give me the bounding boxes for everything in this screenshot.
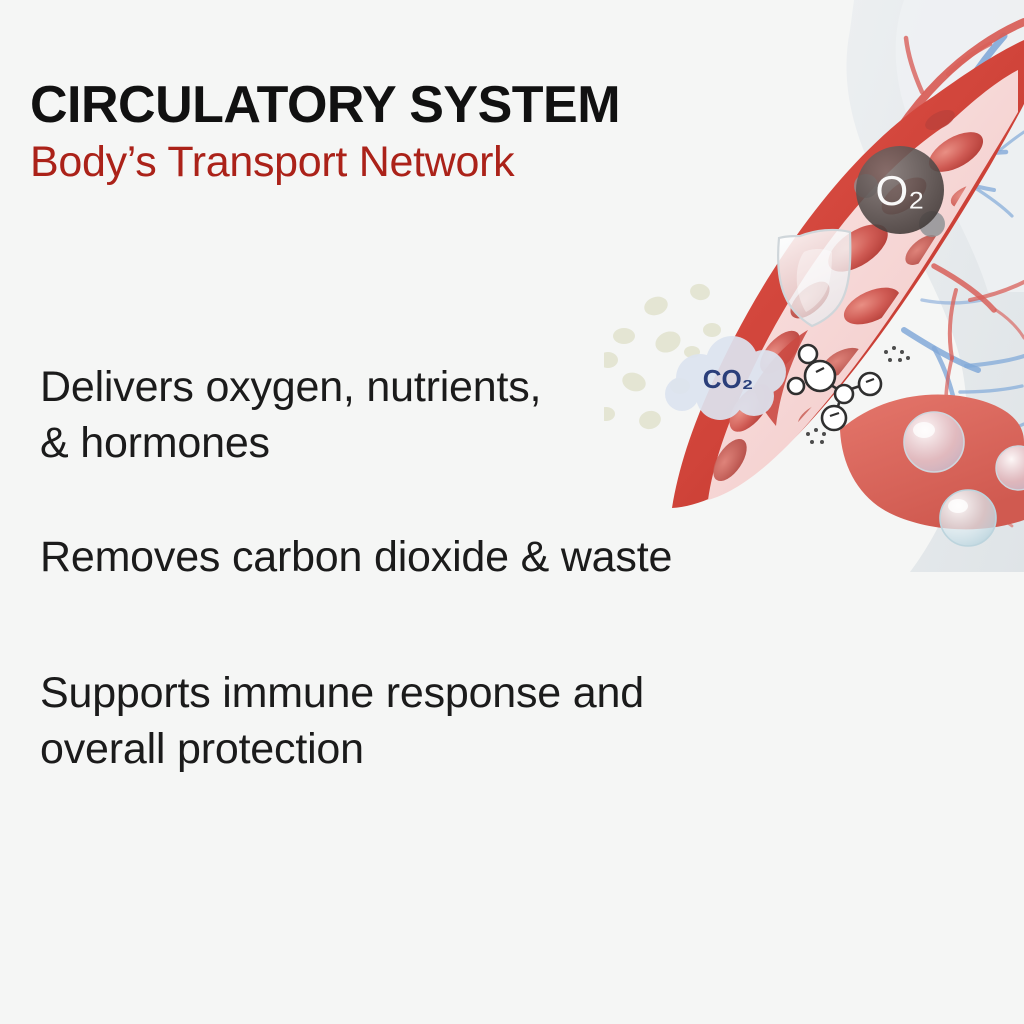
slide-canvas: O₂ CO₂	[0, 0, 1024, 1024]
fluid-bubbles	[904, 412, 1024, 546]
vein-network	[904, 36, 1024, 504]
list-item: Delivers oxygen, nutrients, & hormones	[40, 360, 870, 472]
oxygen-molecule-badge: O₂	[854, 146, 945, 237]
page-title: CIRCULATORY SYSTEM	[30, 78, 790, 133]
body-silhouette	[846, 0, 1024, 572]
title-block: CIRCULATORY SYSTEM Body’s Transport Netw…	[30, 78, 790, 186]
list-item: Supports immune response and overall pro…	[40, 666, 870, 778]
list-item: Removes carbon dioxide & waste	[40, 530, 870, 586]
oxygen-label: O₂	[876, 167, 925, 214]
page-subtitle: Body’s Transport Network	[30, 139, 790, 185]
key-points-list: Delivers oxygen, nutrients, & hormones R…	[40, 360, 870, 777]
immune-shield	[778, 230, 850, 326]
